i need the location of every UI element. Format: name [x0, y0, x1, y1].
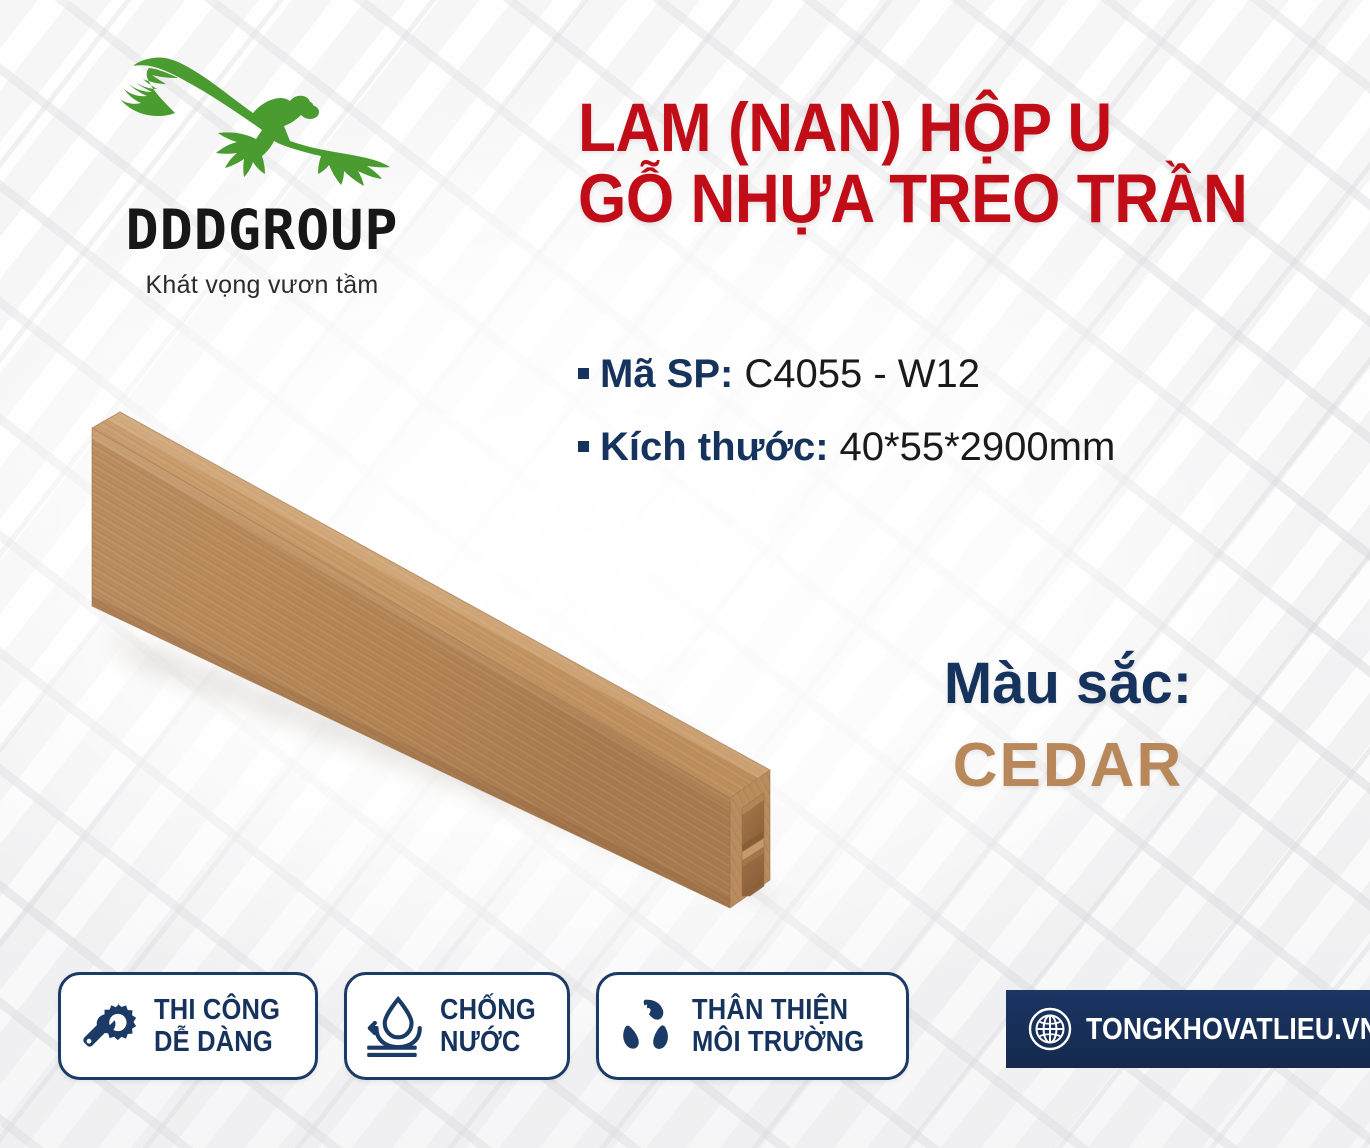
eagle-icon	[120, 44, 405, 199]
product-image	[70, 400, 830, 940]
feature-badge-row: THI CÔNG DỄ DÀNG CHỐNG NƯỚC	[58, 972, 909, 1080]
badge-line1: THÂN THIỆN	[692, 994, 848, 1026]
website-url: TONGKHOVATLIEU.VN	[1086, 1011, 1370, 1047]
badge-line2: NƯỚC	[440, 1026, 521, 1058]
colour-value: CEDAR	[858, 730, 1278, 801]
page-title-line2: GỖ NHỰA TREO TRẦN	[578, 163, 1262, 234]
badge-easy-installation[interactable]: THI CÔNG DỄ DÀNG	[58, 972, 318, 1080]
wrench-gear-icon	[75, 993, 141, 1059]
page-title-line1: LAM (NAN) HỘP U	[578, 89, 1112, 166]
colour-label: Màu sắc:	[858, 652, 1278, 716]
brand-name: DDDGROUP	[62, 203, 462, 258]
water-drop-repel-icon	[361, 993, 427, 1059]
spec-row-product-code: Mã SP: C4055 - W12	[578, 352, 1318, 397]
badge-label-water-resistant: CHỐNG NƯỚC	[440, 994, 536, 1059]
spec-value-product-code: C4055 - W12	[744, 352, 980, 397]
spec-value-dimensions: 40*55*2900mm	[840, 425, 1116, 470]
badge-line1: THI CÔNG	[154, 994, 280, 1026]
badge-label-easy-installation: THI CÔNG DỄ DÀNG	[154, 994, 280, 1059]
recycle-leaves-icon	[613, 993, 679, 1059]
colour-callout: Màu sắc: CEDAR	[858, 652, 1278, 801]
badge-line2: MÔI TRƯỜNG	[692, 1026, 864, 1058]
badge-water-resistant[interactable]: CHỐNG NƯỚC	[344, 972, 570, 1080]
brand-tagline: Khát vọng vươn tầm	[62, 271, 462, 300]
spec-label-product-code: Mã SP:	[600, 352, 733, 397]
globe-icon	[1028, 1007, 1072, 1051]
page-title: LAM (NAN) HỘP U GỖ NHỰA TREO TRẦN	[578, 92, 1262, 234]
website-bar[interactable]: TONGKHOVATLIEU.VN	[1006, 990, 1370, 1068]
brand-logo-block: DDDGROUP Khát vọng vươn tầm	[62, 44, 462, 300]
product-poster: DDDGROUP Khát vọng vươn tầm LAM (NAN) HỘ…	[0, 0, 1370, 1148]
badge-label-eco-friendly: THÂN THIỆN MÔI TRƯỜNG	[692, 994, 864, 1059]
badge-eco-friendly[interactable]: THÂN THIỆN MÔI TRƯỜNG	[596, 972, 909, 1080]
badge-line2: DỄ DÀNG	[154, 1026, 273, 1058]
bullet-square-icon	[578, 368, 589, 379]
badge-line1: CHỐNG	[440, 994, 536, 1026]
